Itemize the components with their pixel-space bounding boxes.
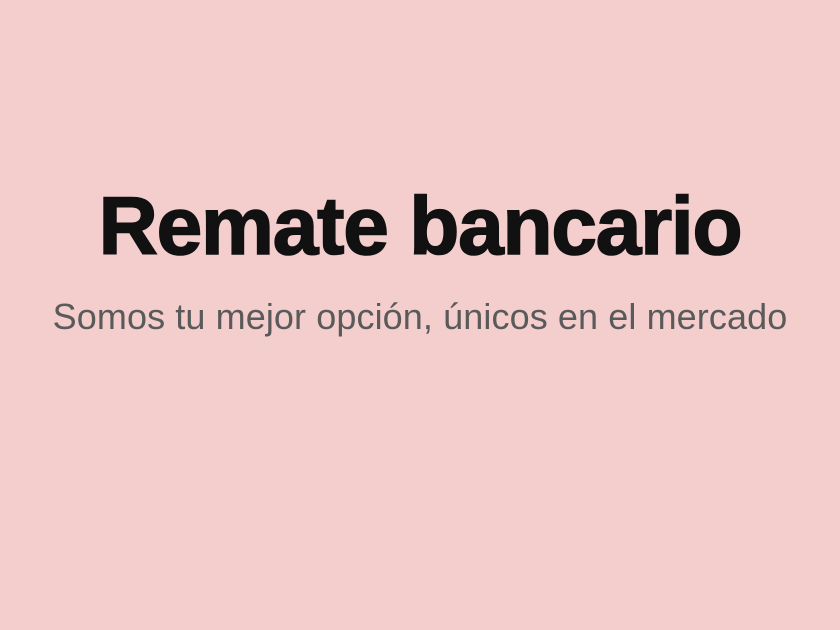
hero-subtitle: Somos tu mejor opción, únicos en el merc…	[53, 299, 788, 335]
hero-content: Remate bancario Somos tu mejor opción, ú…	[0, 0, 840, 630]
hero-subtitle-container: Somos tu mejor opción, únicos en el merc…	[0, 299, 840, 335]
page-title: Remate bancario	[99, 186, 742, 268]
promo-banner: Remate bancario Somos tu mejor opción, ú…	[0, 0, 840, 630]
